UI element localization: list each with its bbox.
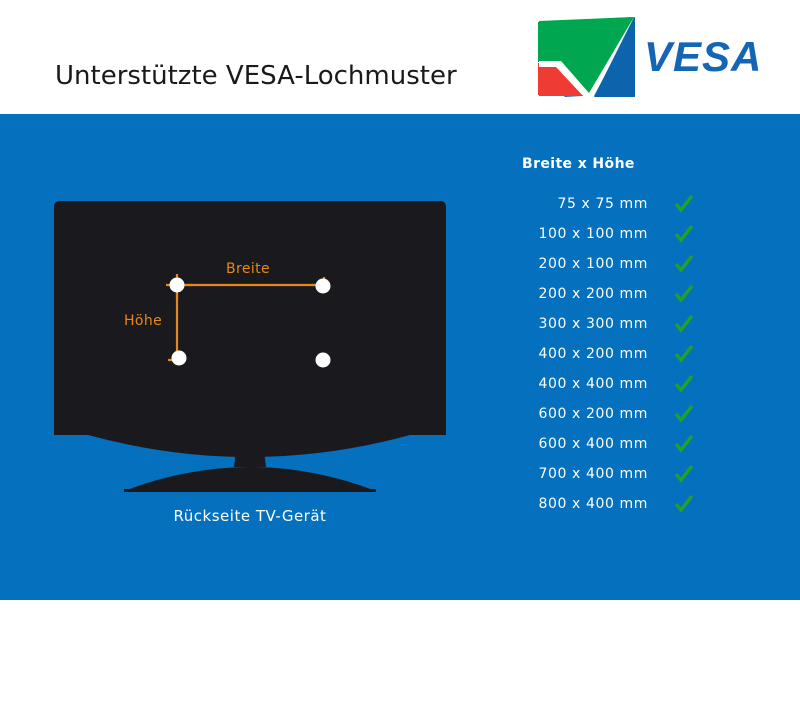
pattern-size-label: 700 x 400 mm [500,466,648,482]
supported-check-icon [664,405,704,423]
footer-line-2: Rufen Sie an, wir helfen gerne weiter! T… [29,687,789,706]
table-row: 100 x 100 mm [500,219,730,249]
supported-check-icon [664,435,704,453]
table-row: 75 x 75 mm [500,189,730,219]
table-row: 200 x 200 mm [500,279,730,309]
pattern-size-label: 200 x 200 mm [500,286,648,302]
supported-check-icon [664,315,704,333]
supported-check-icon [664,345,704,363]
table-row: 400 x 200 mm [500,339,730,369]
vesa-pattern-table: Breite x Höhe 75 x 75 mm 100 x 100 mm 20… [500,156,730,519]
pattern-size-label: 600 x 200 mm [500,406,648,422]
table-row: 600 x 400 mm [500,429,730,459]
pattern-size-label: 600 x 400 mm [500,436,648,452]
table-row: 800 x 400 mm [500,489,730,519]
vesa-logo: VESA [534,17,784,97]
table-column-header: Breite x Höhe [500,156,730,172]
supported-check-icon [664,465,704,483]
hoehe-label: Höhe [124,313,162,329]
pattern-size-label: 800 x 400 mm [500,496,648,512]
supported-check-icon [664,255,704,273]
table-row: 600 x 200 mm [500,399,730,429]
supported-check-icon [664,195,704,213]
footer-line-1: Sie haben Fragen zu der VESA-Norm oder I… [29,668,789,687]
vesa-checkmark-logo-icon [534,17,635,97]
pattern-size-label: 200 x 100 mm [500,256,648,272]
pattern-size-label: 75 x 75 mm [500,196,648,212]
page-title: Unterstützte VESA-Lochmuster [55,59,457,93]
page-header: Unterstützte VESA-Lochmuster [0,0,800,114]
tv-back-illustration: Breite Höhe [40,189,460,509]
pattern-size-label: 300 x 300 mm [500,316,648,332]
table-row: 700 x 400 mm [500,459,730,489]
supported-check-icon [664,225,704,243]
content-panel: Breite Höhe Rückseite TV-Gerät Breite x … [0,114,800,600]
vesa-wordmark: VESA [644,33,762,81]
table-row: 300 x 300 mm [500,309,730,339]
footer-divider [28,659,772,661]
pattern-size-label: 400 x 200 mm [500,346,648,362]
supported-check-icon [664,375,704,393]
table-row: 400 x 400 mm [500,369,730,399]
breite-label: Breite [226,261,270,277]
table-row: 200 x 100 mm [500,249,730,279]
pattern-size-label: 400 x 400 mm [500,376,648,392]
pattern-size-label: 100 x 100 mm [500,226,648,242]
supported-check-icon [664,495,704,513]
supported-check-icon [664,285,704,303]
tv-caption: Rückseite TV-Gerät [40,507,460,525]
vesa-info-page: Unterstützte VESA-Lochmuster [0,0,800,600]
footer-contact-text: Sie haben Fragen zu der VESA-Norm oder I… [29,668,789,706]
